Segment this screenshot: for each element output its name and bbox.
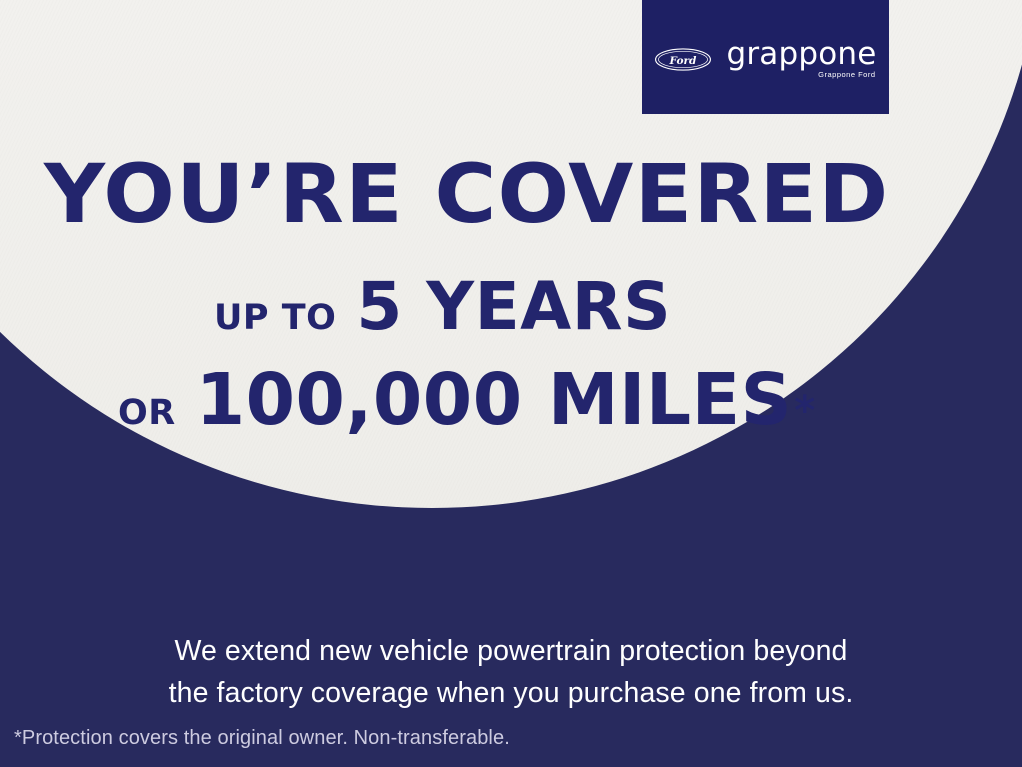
body-copy-line-2: the factory coverage when you purchase o…	[0, 672, 1022, 714]
miles-value: 100,000 MILES	[196, 358, 793, 441]
years-lead-label: UP TO	[214, 298, 336, 338]
body-copy: We extend new vehicle powertrain protect…	[0, 630, 1022, 714]
dealer-wordmark: grappone Grappone Ford	[726, 39, 876, 79]
coverage-years-row: UP TO 5 YEARS	[214, 268, 671, 345]
headline-primary: YOU’RE COVERED	[44, 155, 889, 236]
coverage-miles-row: OR 100,000 MILES *	[118, 358, 815, 441]
dealer-badge: Ford grappone Grappone Ford	[642, 0, 889, 114]
years-value: 5 YEARS	[356, 268, 671, 345]
dealer-subtitle: Grappone Ford	[818, 71, 875, 79]
dealer-name: grappone	[726, 39, 876, 70]
miles-asterisk: *	[794, 388, 815, 434]
advertisement-banner: Ford grappone Grappone Ford YOU’RE COVER…	[0, 0, 1022, 767]
svg-text:Ford: Ford	[669, 54, 698, 66]
ford-oval-logo: Ford	[654, 47, 712, 72]
body-copy-line-1: We extend new vehicle powertrain protect…	[0, 630, 1022, 672]
legal-footnote: *Protection covers the original owner. N…	[14, 727, 510, 750]
miles-lead-label: OR	[118, 393, 176, 433]
